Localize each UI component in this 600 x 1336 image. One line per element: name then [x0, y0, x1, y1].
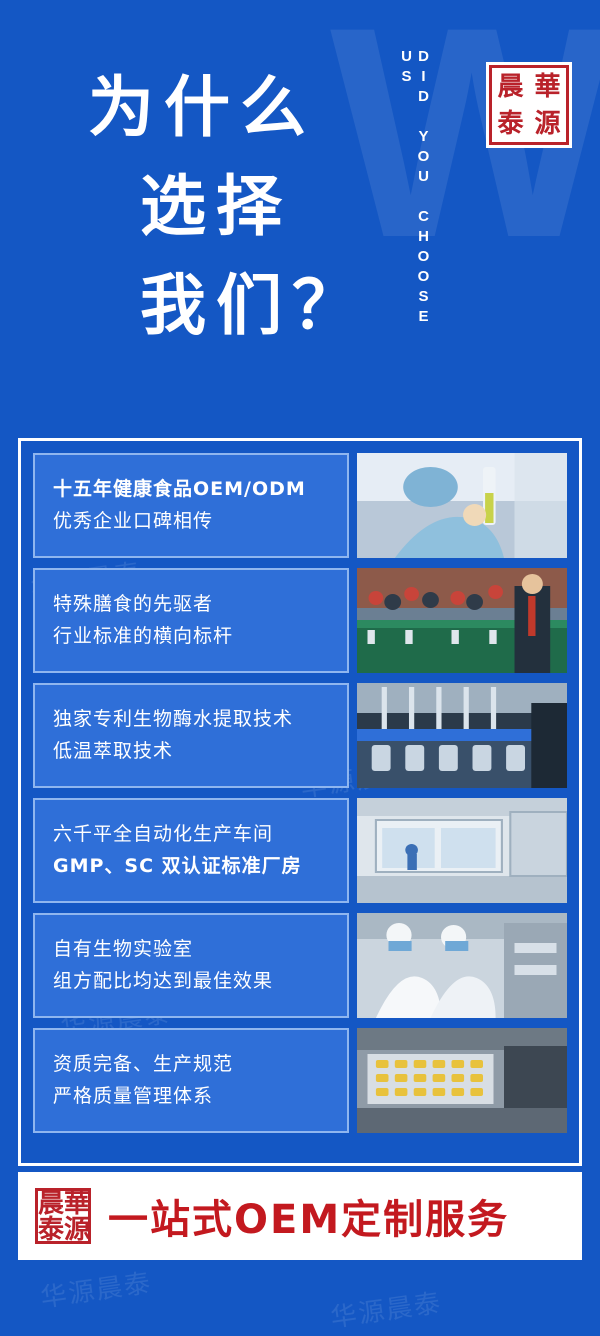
footer-banner: 晨 華 泰 源 一站式OEM定制服务: [18, 1172, 582, 1260]
features-list: 十五年健康食品OEM/ODM 优秀企业口碑相传: [33, 453, 567, 1133]
feature-text-5: 自有生物实验室 组方配比均达到最佳效果: [33, 913, 349, 1018]
headline-line-2: 选择: [140, 157, 368, 256]
header: 为什么 选择 我们？ DID YOU CHOOSE US 晨 華 泰 源: [0, 0, 600, 430]
stamp-char: 華: [529, 68, 566, 105]
feature-text-4: 六千平全自动化生产车间 GMP、SC 双认证标准厂房: [33, 798, 349, 903]
feature-text-1: 十五年健康食品OEM/ODM 优秀企业口碑相传: [33, 453, 349, 558]
feature-line-1: 六千平全自动化生产车间: [53, 819, 329, 850]
watermark: 华源晨泰: [328, 1282, 444, 1334]
feature-line-1: 特殊膳食的先驱者: [53, 589, 329, 620]
features-panel: 十五年健康食品OEM/ODM 优秀企业口碑相传: [18, 438, 582, 1166]
feature-line-2: 行业标准的横向标杆: [53, 621, 329, 652]
vertical-english-subtitle: DID YOU CHOOSE US: [398, 48, 432, 378]
list-item: 资质完备、生产规范 严格质量管理体系: [33, 1028, 567, 1133]
list-item: 独家专利生物酶水提取技术 低温萃取技术: [33, 683, 567, 788]
headline-line-3: 我们？: [140, 256, 368, 355]
researchers-photo: [357, 913, 567, 1018]
conference-audience-photo: [357, 568, 567, 673]
feature-line-1: 资质完备、生产规范: [53, 1049, 329, 1080]
footer-slogan: 一站式OEM定制服务: [108, 1187, 509, 1245]
feature-line-1: 独家专利生物酶水提取技术: [53, 704, 329, 735]
stamp-char: 泰: [492, 105, 529, 142]
stamp-char: 源: [529, 105, 566, 142]
stamp-char: 華: [64, 1191, 90, 1217]
feature-text-2: 特殊膳食的先驱者 行业标准的横向标杆: [33, 568, 349, 673]
headline-line-1: 为什么: [88, 58, 368, 157]
brand-stamp-logo-footer: 晨 華 泰 源: [32, 1185, 94, 1247]
cleanroom-workshop-photo: [357, 798, 567, 903]
feature-line-1: 自有生物实验室: [53, 934, 329, 965]
list-item: 六千平全自动化生产车间 GMP、SC 双认证标准厂房: [33, 798, 567, 903]
feature-line-2: GMP、SC 双认证标准厂房: [53, 851, 329, 882]
feature-line-2: 严格质量管理体系: [53, 1081, 329, 1112]
capsule-packing-line-photo: [357, 1028, 567, 1133]
watermark: 华源晨泰: [38, 1262, 154, 1314]
feature-line-2: 优秀企业口碑相传: [53, 506, 329, 537]
page-title: 为什么 选择 我们？: [88, 58, 368, 355]
stamp-char: 晨: [38, 1191, 64, 1217]
lab-technician-photo: [357, 453, 567, 558]
stamp-char: 晨: [492, 68, 529, 105]
list-item: 特殊膳食的先驱者 行业标准的横向标杆: [33, 568, 567, 673]
feature-line-2: 低温萃取技术: [53, 736, 329, 767]
feature-line-2: 组方配比均达到最佳效果: [53, 966, 329, 997]
feature-text-3: 独家专利生物酶水提取技术 低温萃取技术: [33, 683, 349, 788]
brand-stamp-logo: 晨 華 泰 源: [486, 62, 572, 148]
filling-machine-photo: [357, 683, 567, 788]
feature-text-6: 资质完备、生产规范 严格质量管理体系: [33, 1028, 349, 1133]
stamp-char: 泰: [38, 1217, 64, 1243]
list-item: 十五年健康食品OEM/ODM 优秀企业口碑相传: [33, 453, 567, 558]
list-item: 自有生物实验室 组方配比均达到最佳效果: [33, 913, 567, 1018]
feature-line-1: 十五年健康食品OEM/ODM: [53, 474, 329, 505]
stamp-char: 源: [64, 1217, 90, 1243]
